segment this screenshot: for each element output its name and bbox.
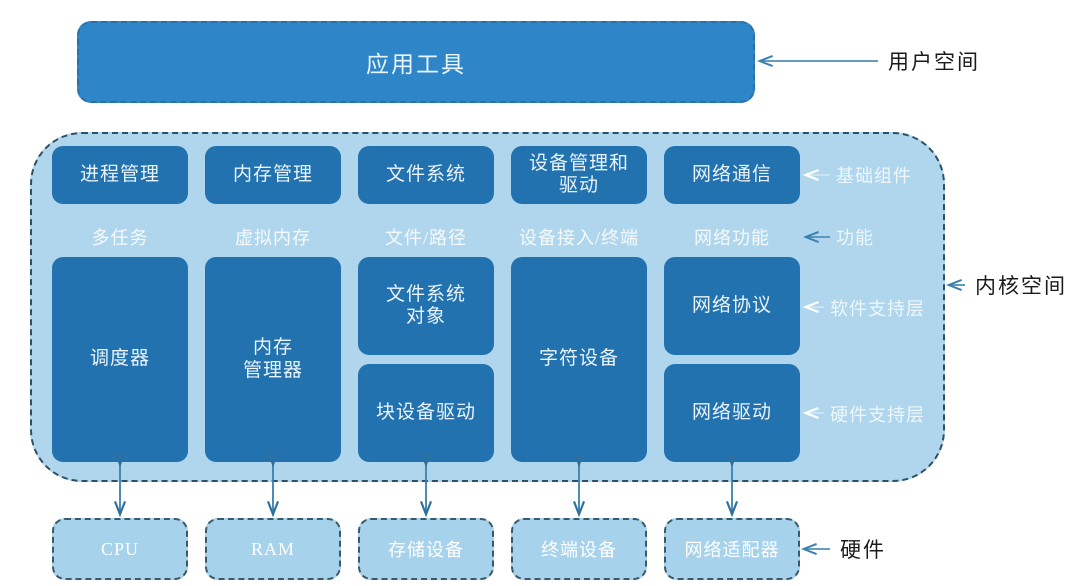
function-label-file-path: 文件/路径 (358, 222, 494, 252)
component-label: 网络通信 (692, 164, 772, 186)
impl-label: 文件系统 对象 (386, 284, 466, 329)
impl-box-filesystem-object[interactable]: 文件系统 对象 (358, 257, 494, 355)
impl-label: 网络协议 (692, 295, 772, 317)
hardware-box-cpu[interactable]: CPU (52, 518, 188, 580)
impl-label: 网络驱动 (692, 402, 772, 424)
hardware-box-storage-device[interactable]: 存储设备 (358, 518, 494, 580)
hardware-box-terminal-device[interactable]: 终端设备 (511, 518, 647, 580)
component-label: 内存管理 (233, 164, 313, 186)
hardware-label: 存储设备 (388, 536, 464, 562)
kernel-space-side-label: 内核空间 (975, 271, 1067, 299)
user-space-box: 应用工具 (77, 21, 755, 103)
user-space-side-label: 用户空间 (888, 47, 980, 75)
row-label-functions: 功能 (836, 223, 874, 251)
impl-label: 调度器 (90, 348, 150, 370)
hardware-label: 终端设备 (541, 536, 617, 562)
impl-box-block-device-driver[interactable]: 块设备驱动 (358, 364, 494, 462)
component-label: 文件系统 (386, 164, 466, 186)
component-box-network-communication[interactable]: 网络通信 (664, 146, 800, 204)
diagram-canvas: 应用工具 用户空间 内核空间 进程管理 内存管理 文件系统 设备管理和 驱动 网… (0, 0, 1080, 586)
hardware-box-network-adapter[interactable]: 网络适配器 (664, 518, 800, 580)
component-label: 进程管理 (80, 164, 160, 186)
function-label-network: 网络功能 (664, 222, 800, 252)
function-label-virtual-memory: 虚拟内存 (205, 222, 341, 252)
function-label-device-access: 设备接入/终端 (505, 222, 653, 252)
hardware-label: 网络适配器 (685, 536, 780, 562)
component-box-device-management[interactable]: 设备管理和 驱动 (511, 146, 647, 204)
impl-box-character-device[interactable]: 字符设备 (511, 257, 647, 462)
row-label-hardware-support: 硬件支持层 (830, 400, 925, 428)
component-label: 设备管理和 驱动 (529, 153, 629, 198)
impl-label: 块设备驱动 (376, 402, 476, 424)
impl-box-network-driver[interactable]: 网络驱动 (664, 364, 800, 462)
hardware-label: CPU (101, 539, 139, 560)
row-label-base-components: 基础组件 (836, 162, 912, 188)
function-label-multitasking: 多任务 (52, 222, 188, 252)
component-box-file-system[interactable]: 文件系统 (358, 146, 494, 204)
hardware-label: RAM (251, 539, 295, 560)
impl-box-network-protocol[interactable]: 网络协议 (664, 257, 800, 355)
impl-box-scheduler[interactable]: 调度器 (52, 257, 188, 462)
impl-label: 字符设备 (539, 348, 619, 370)
component-box-memory-management[interactable]: 内存管理 (205, 146, 341, 204)
hardware-side-label: 硬件 (840, 535, 886, 563)
hardware-box-ram[interactable]: RAM (205, 518, 341, 580)
impl-label: 内存 管理器 (243, 337, 303, 382)
user-space-box-label: 应用工具 (366, 45, 466, 79)
row-label-software-support: 软件支持层 (830, 294, 925, 322)
component-box-process-management[interactable]: 进程管理 (52, 146, 188, 204)
impl-box-memory-manager[interactable]: 内存 管理器 (205, 257, 341, 462)
